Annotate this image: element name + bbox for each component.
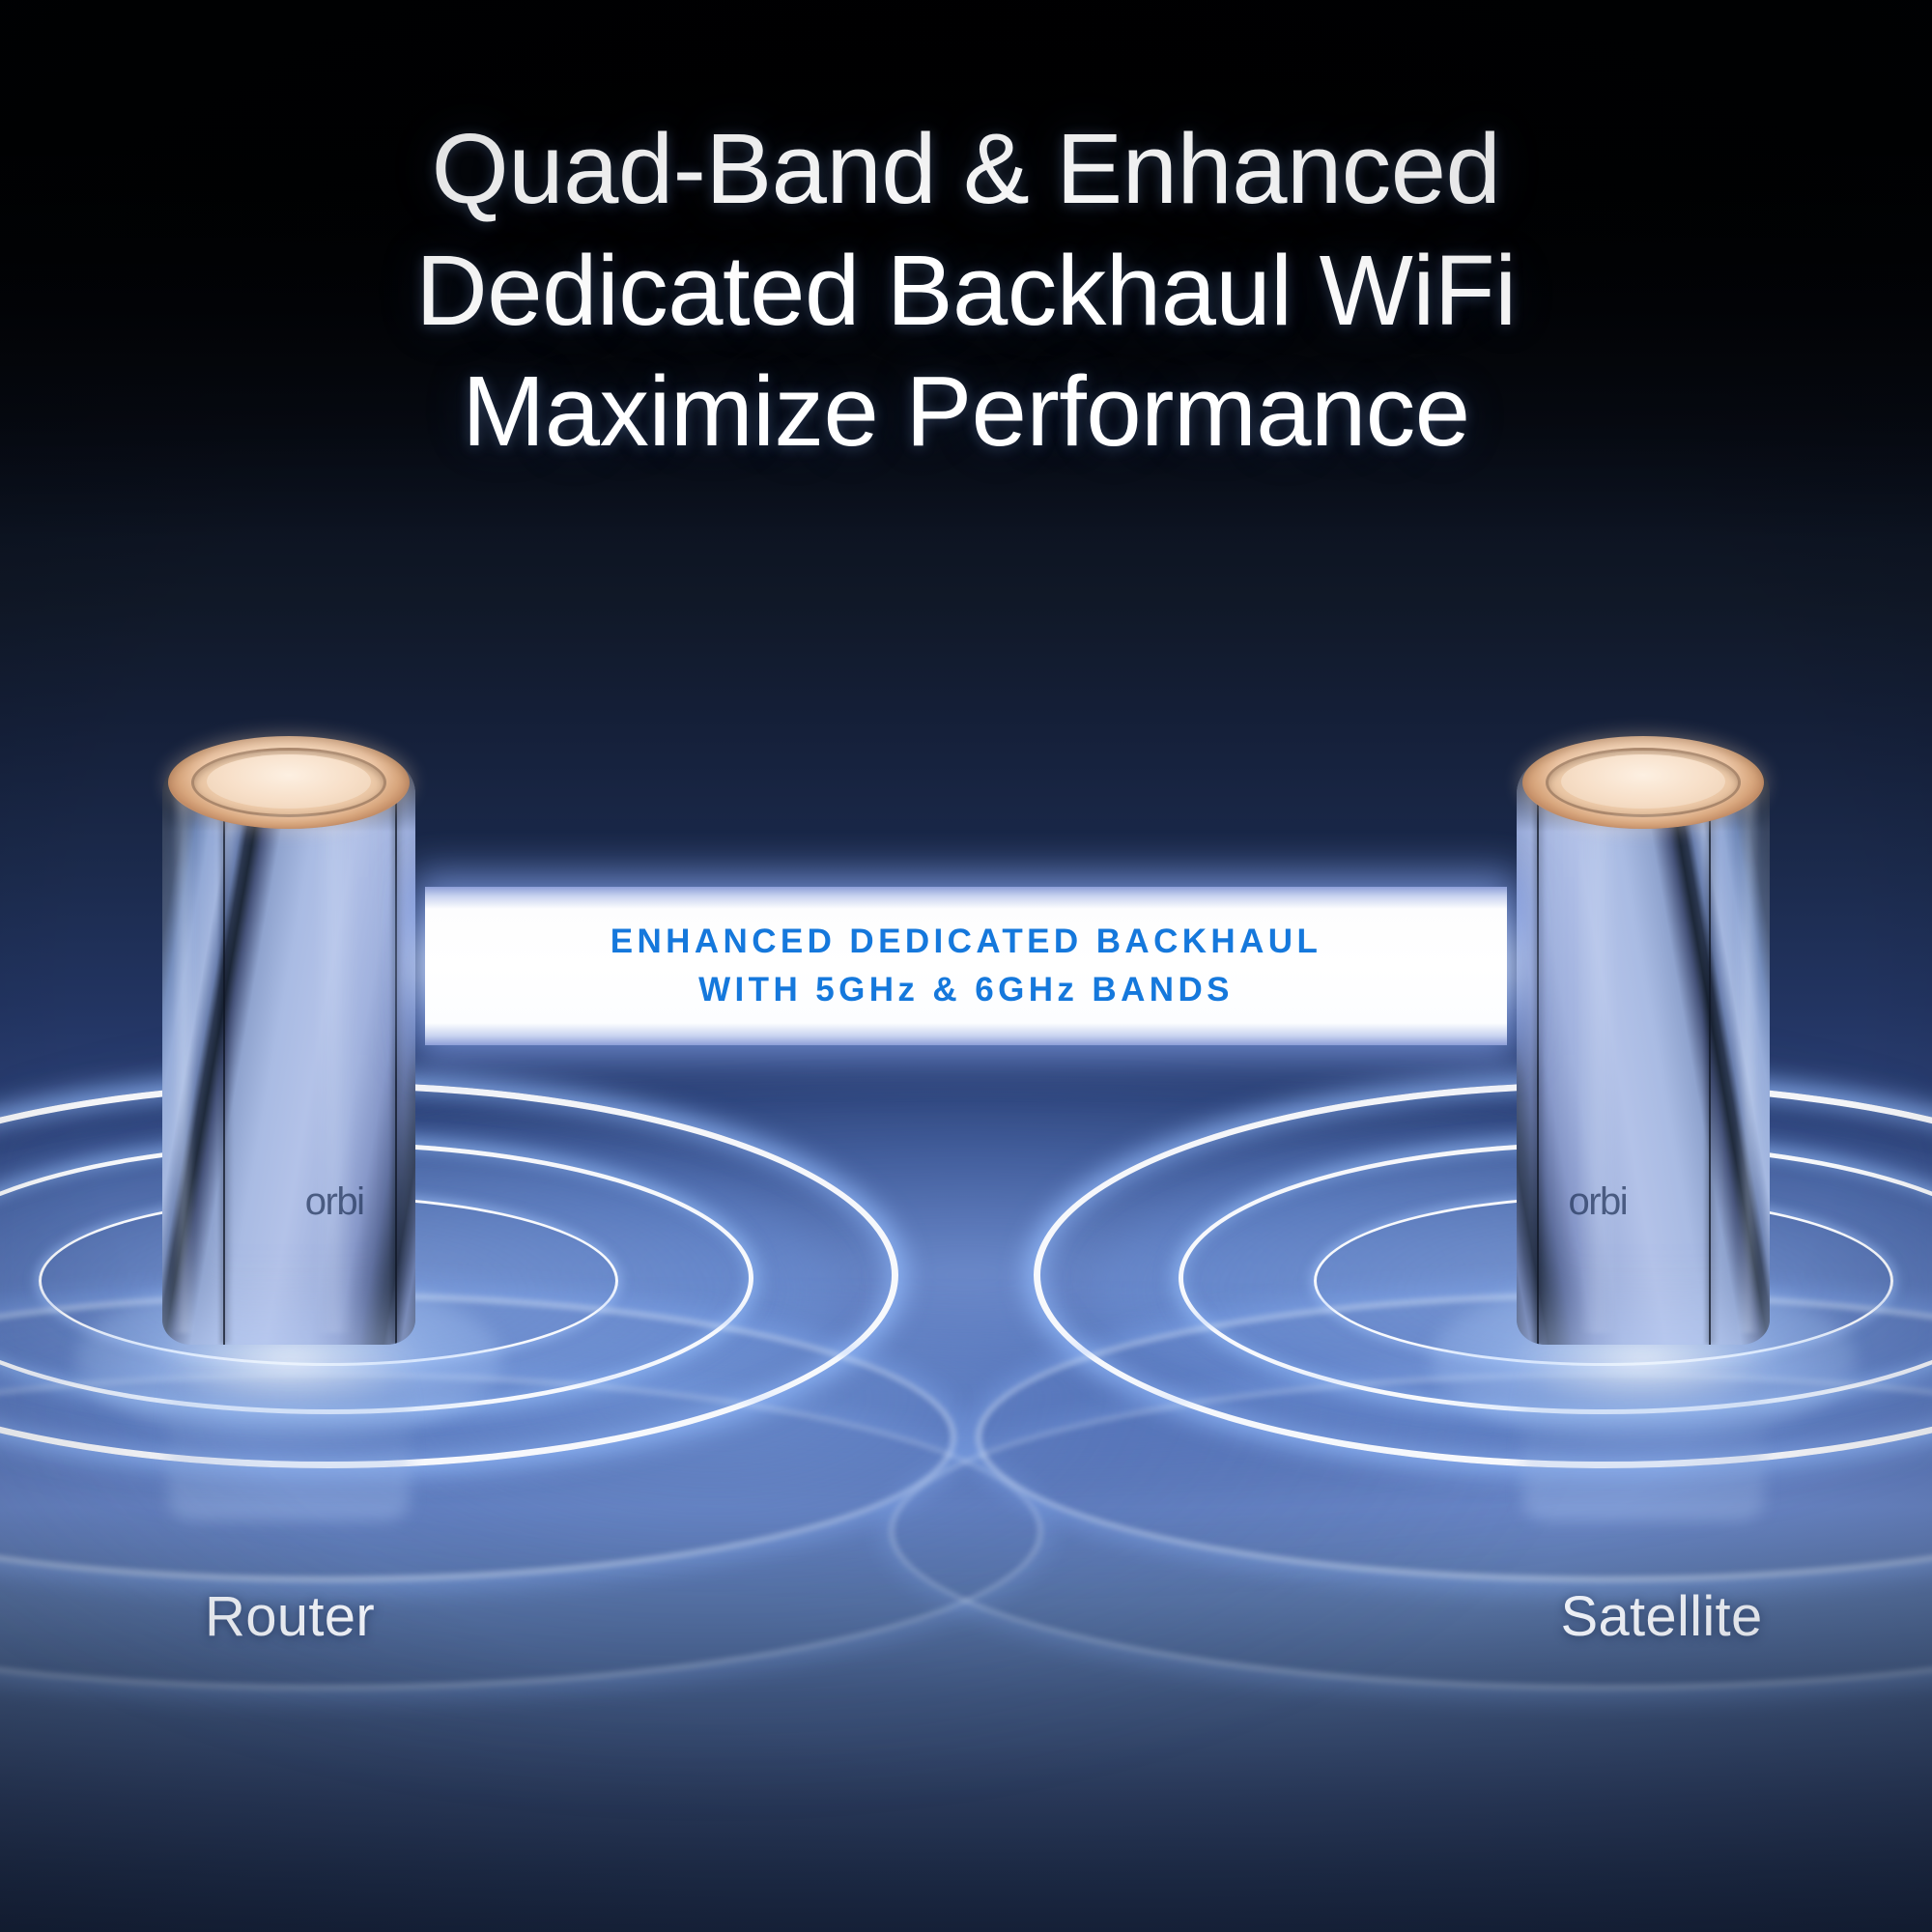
product-marketing-image: orbi orbi ENHANCED DEDICATED BACKHAUL WI…	[0, 0, 1932, 1932]
vignette-overlay	[0, 0, 1932, 1932]
